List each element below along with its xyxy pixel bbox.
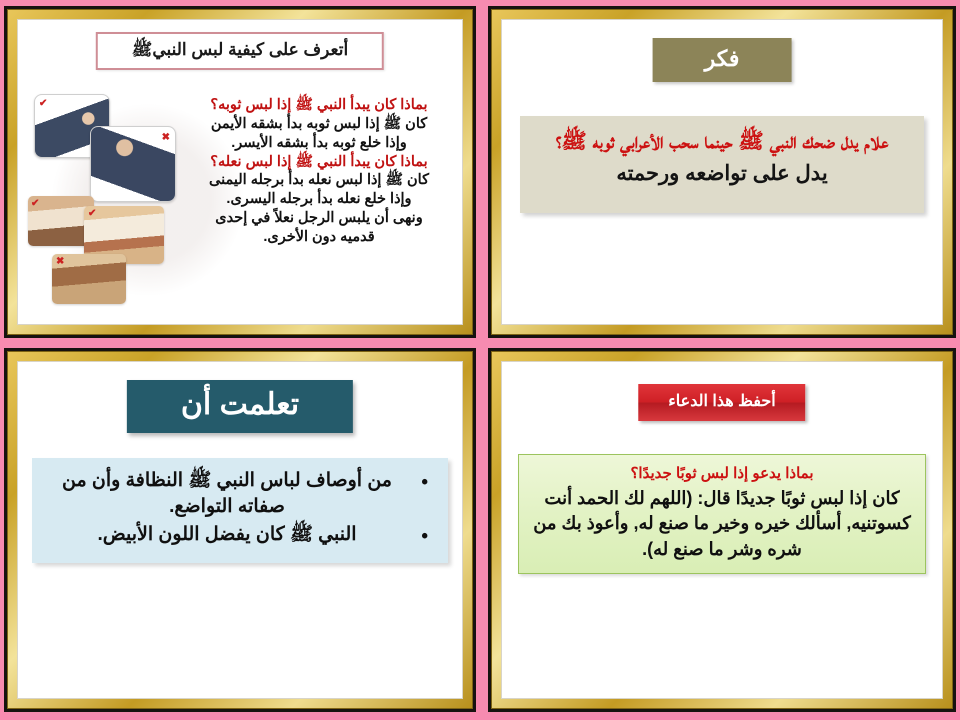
slide-inner-dark-border: أحفظ هذا الدعاء بماذا يدعو إذا لبس ثوبًا… (488, 348, 956, 712)
think-heading: فكر (653, 38, 792, 82)
slide-lesson-page: أتعرف على كيفية لبس النبيﷺ بماذا كان يبد… (17, 19, 463, 325)
lesson-line-8: قدميه دون الأخرى. (186, 228, 452, 247)
lesson-text-column: بماذا كان يبدأ النبي ﷺ إذا لبس ثوبه؟ كان… (186, 94, 452, 318)
cross-icon: ✖ (162, 133, 170, 143)
slide-learned-page: تعلمت أن • من أوصاف لباس النبي ﷺ النظافة… (17, 361, 463, 699)
dua-answer: كان إذا لبس ثوبًا جديدًا قال: (اللهم لك … (531, 486, 913, 563)
lesson-line-7: ونهى أن يلبس الرجل نعلاً في إحدى (186, 209, 452, 228)
list-item: • من أوصاف لباس النبي ﷺ النظافة وأن من ص… (46, 468, 408, 520)
slide-inner-dark-border: تعلمت أن • من أوصاف لباس النبي ﷺ النظافة… (4, 348, 476, 712)
lesson-body: بماذا كان يبدأ النبي ﷺ إذا لبس ثوبه؟ كان… (28, 94, 452, 318)
learned-content-box: • من أوصاف لباس النبي ﷺ النظافة وأن من ص… (32, 458, 448, 563)
check-icon: ✔ (39, 99, 47, 109)
dua-question: بماذا يدعو إذا لبس ثوبًا جديدًا؟ (531, 464, 913, 484)
lesson-figure-column: ✔ ✖ ✔ ✔ ✖ (28, 94, 180, 309)
lesson-line-6: وإذا خلع نعله بدأ برجله اليسرى. (186, 190, 452, 209)
photo-single-sandal: ✖ (52, 254, 126, 304)
slide-dua-page: أحفظ هذا الدعاء بماذا يدعو إذا لبس ثوبًا… (501, 361, 943, 699)
slide-inner-dark-border: أتعرف على كيفية لبس النبيﷺ بماذا كان يبد… (4, 6, 476, 338)
learned-heading: تعلمت أن (127, 380, 353, 433)
slide-gold-frame: تعلمت أن • من أوصاف لباس النبي ﷺ النظافة… (7, 351, 473, 709)
list-item: • النبي ﷺ كان يفضل اللون الأبيض. (46, 522, 408, 548)
lesson-heading: أتعرف على كيفية لبس النبيﷺ (96, 32, 384, 70)
learned-item-2: النبي ﷺ كان يفضل اللون الأبيض. (97, 524, 356, 545)
lesson-line-5: كان ﷺ إذا لبس نعله بدأ برجله اليمنى (186, 171, 452, 190)
slide-learned[interactable]: تعلمت أن • من أوصاف لباس النبي ﷺ النظافة… (0, 340, 482, 720)
lesson-line-3: وإذا خلع ثوبه بدأ بشقه الأيسر. (186, 134, 452, 153)
learned-list: • من أوصاف لباس النبي ﷺ النظافة وأن من ص… (46, 468, 434, 549)
slide-gold-frame: أتعرف على كيفية لبس النبيﷺ بماذا كان يبد… (7, 9, 473, 335)
bullet-icon: • (421, 524, 428, 550)
dua-content-box: بماذا يدعو إذا لبس ثوبًا جديدًا؟ كان إذا… (518, 454, 926, 574)
lesson-line-1: بماذا كان يبدأ النبي ﷺ إذا لبس ثوبه؟ (186, 96, 452, 115)
bullet-icon: • (421, 470, 428, 496)
slide-dua[interactable]: أحفظ هذا الدعاء بماذا يدعو إذا لبس ثوبًا… (482, 340, 960, 720)
think-answer: يدل على تواضعه ورحمته (536, 160, 908, 187)
dua-heading: أحفظ هذا الدعاء (638, 384, 805, 421)
slide-lesson[interactable]: أتعرف على كيفية لبس النبيﷺ بماذا كان يبد… (0, 0, 482, 340)
lesson-line-4: بماذا كان يبدأ النبي ﷺ إذا لبس نعله؟ (186, 153, 452, 172)
slide-deck: فكر علام يدل ضحك النبي ﷺ حينما سحب الأعر… (0, 0, 960, 720)
slide-inner-dark-border: فكر علام يدل ضحك النبي ﷺ حينما سحب الأعر… (488, 6, 956, 338)
cross-icon: ✖ (56, 257, 64, 267)
slide-gold-frame: فكر علام يدل ضحك النبي ﷺ حينما سحب الأعر… (491, 9, 953, 335)
check-icon: ✔ (88, 209, 96, 219)
learned-item-1: من أوصاف لباس النبي ﷺ النظافة وأن من صفا… (62, 470, 392, 517)
slide-think-page: فكر علام يدل ضحك النبي ﷺ حينما سحب الأعر… (501, 19, 943, 325)
slide-gold-frame: أحفظ هذا الدعاء بماذا يدعو إذا لبس ثوبًا… (491, 351, 953, 709)
slide-think[interactable]: فكر علام يدل ضحك النبي ﷺ حينما سحب الأعر… (482, 0, 960, 340)
think-content-box: علام يدل ضحك النبي ﷺ حينما سحب الأعرابي … (520, 116, 924, 213)
photo-dressing-left-side: ✖ (90, 126, 176, 202)
check-icon: ✔ (31, 199, 39, 209)
think-question: علام يدل ضحك النبي ﷺ حينما سحب الأعرابي … (536, 128, 908, 156)
lesson-line-2: كان ﷺ إذا لبس ثوبه بدأ بشقه الأيمن (186, 115, 452, 134)
